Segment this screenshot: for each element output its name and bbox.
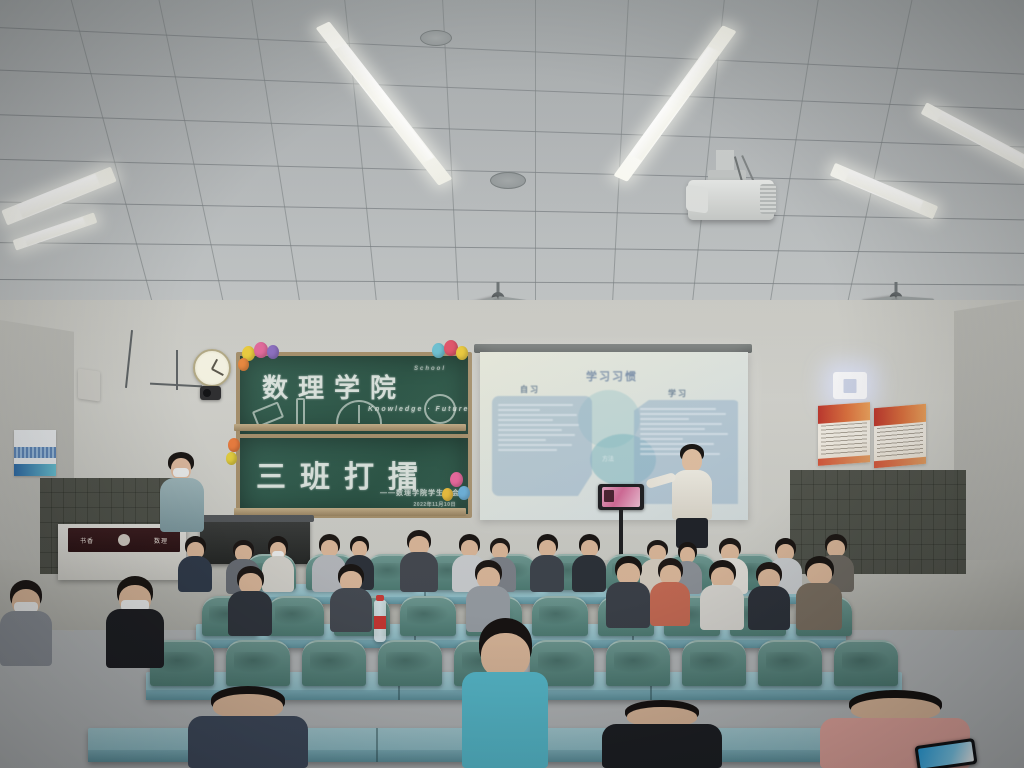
torso (400, 552, 438, 592)
torso (700, 585, 744, 630)
torso (606, 582, 650, 628)
audience-member (700, 560, 744, 630)
audience-member (0, 580, 52, 666)
chair (302, 640, 366, 686)
torso (178, 556, 212, 592)
audience-member (106, 576, 164, 668)
torso (572, 555, 606, 592)
torso (106, 609, 164, 668)
ceiling-light-fixture (1, 166, 116, 225)
audience-member (178, 536, 212, 592)
chair (268, 596, 324, 636)
chair (682, 640, 746, 686)
audience-member (572, 534, 606, 592)
balloon (450, 472, 463, 487)
exit-sign-icon (833, 372, 867, 399)
audience-member (530, 534, 564, 592)
audience-member (228, 566, 272, 636)
torso (796, 583, 842, 630)
slide-center-bubble-label: 方法 (602, 454, 614, 463)
student-at-podium (160, 452, 204, 532)
balloon (432, 343, 445, 358)
wall-camera (200, 386, 221, 400)
audience-member (748, 562, 790, 630)
audience-member (400, 530, 438, 592)
chair (400, 596, 456, 636)
wall-poster (818, 402, 870, 466)
balloon (254, 342, 268, 358)
chalkboard-title: 数理学院 (262, 368, 406, 405)
ceiling-speaker (490, 172, 526, 189)
face-mask (173, 468, 189, 477)
audience-member (188, 686, 308, 768)
ceiling-light-fixture (830, 163, 939, 220)
audience-member (602, 700, 722, 768)
classroom-photo: 数理学院 Knowledge · Future School 三班打擂 ——数理… (0, 0, 1024, 768)
balloon (267, 345, 279, 359)
projector (686, 150, 778, 234)
chair (378, 640, 442, 686)
audience-member (462, 618, 548, 768)
water-bottle (374, 600, 386, 642)
presenter (668, 444, 716, 548)
audience-member (330, 564, 372, 632)
torso (0, 611, 52, 666)
torso (188, 716, 308, 768)
balloon (458, 486, 470, 500)
chair (758, 640, 822, 686)
torso (602, 724, 722, 768)
audience-member (796, 556, 842, 630)
slide-right-label: 学习 (668, 388, 688, 399)
slide-left-label: 自习 (520, 384, 540, 395)
ceiling (0, 0, 1024, 340)
chalk-tray (234, 424, 466, 431)
head (807, 563, 832, 585)
circle-doodle-icon (424, 394, 456, 424)
slide-title: 学习习惯 (486, 368, 738, 384)
torso (650, 582, 690, 626)
torso (748, 586, 790, 630)
torso (330, 588, 372, 632)
cable (176, 350, 178, 390)
podium-logo (118, 534, 130, 546)
chalkboard-date: 2022年11月10日 (414, 501, 456, 508)
blue-notice-poster (14, 430, 56, 476)
torso (228, 591, 272, 636)
chalkboard-english-scribble-2: School (414, 366, 446, 372)
chalkboard-lower: 三班打擂 ——数理学院学生分会 2022年11月10日 (236, 434, 472, 518)
ceiling-light-fixture (921, 102, 1024, 175)
audience-member (650, 558, 690, 626)
chair (226, 640, 290, 686)
audience-member (606, 556, 650, 628)
podium-banner-left-text: 书香 (80, 536, 94, 545)
balloon (226, 452, 237, 465)
balloon (238, 358, 249, 371)
chair (834, 640, 898, 686)
wall-speaker (78, 368, 100, 401)
torso (462, 672, 548, 768)
pen-doodle-icon (296, 398, 305, 426)
chalkboard: 数理学院 Knowledge · Future School 三班打擂 ——数理… (236, 352, 472, 514)
torso (530, 555, 564, 592)
ceiling-speaker (420, 30, 452, 46)
chair (606, 640, 670, 686)
balloon (228, 438, 240, 452)
wall-clock (193, 349, 231, 387)
slide-left-box (492, 396, 592, 496)
wall-poster (874, 404, 926, 469)
balloon (442, 488, 453, 501)
balloon (456, 346, 468, 360)
podium-banner-right-text: 数理 (154, 536, 168, 545)
